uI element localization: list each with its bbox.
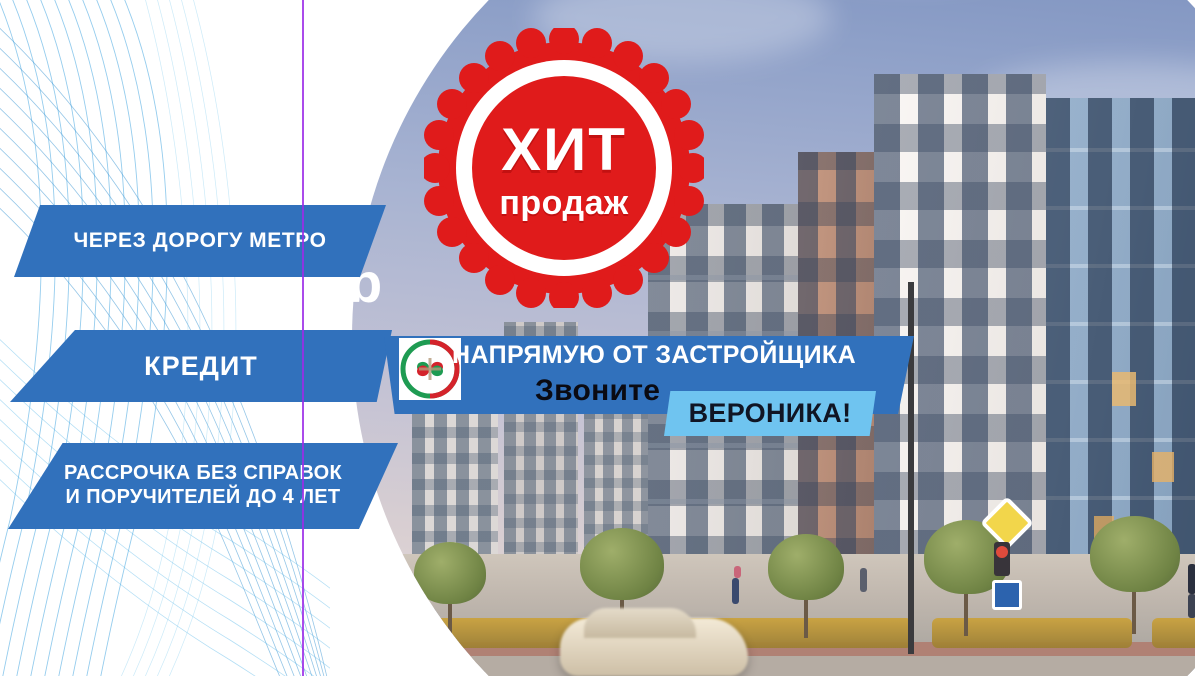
- pedestrian: [1188, 564, 1195, 594]
- feature-banner-installment-label: РАССРОЧКА БЕЗ СПРАВОК И ПОРУЧИТЕЛЕЙ ДО 4…: [64, 462, 342, 509]
- feature-banner-metro[interactable]: ЧЕРЕЗ ДОРОГУ МЕТРО: [14, 205, 386, 277]
- pedestrian-crossing-sign: [992, 580, 1022, 610]
- call-to-action-text: Звоните: [535, 374, 660, 408]
- pedestrian: [732, 578, 739, 604]
- feature-banner-credit-label: КРЕДИТ: [144, 351, 258, 382]
- badge-subtitle: продаж: [424, 186, 704, 220]
- feature-banner-metro-label: ЧЕРЕЗ ДОРОГУ МЕТРО: [73, 229, 326, 253]
- pedestrian: [860, 568, 867, 592]
- hit-sales-badge: ХИТ продаж: [424, 28, 704, 308]
- installment-line-2: И ПОРУЧИТЕЛЕЙ ДО 4 ЛЕТ: [66, 486, 341, 508]
- contact-name-badge[interactable]: ВЕРОНИКА!: [664, 391, 876, 436]
- feature-banner-installment[interactable]: РАССРОЧКА БЕЗ СПРАВОК И ПОРУЧИТЕЛЕЙ ДО 4…: [8, 443, 398, 529]
- badge-title: ХИТ: [424, 120, 704, 180]
- advertisement-banner: ХИТ продаж b ЧЕРЕЗ ДОРОГУ МЕТРО КРЕДИТ Р…: [0, 0, 1195, 676]
- feature-banner-credit[interactable]: КРЕДИТ: [10, 330, 392, 402]
- pedestrian: [734, 566, 741, 578]
- pedestrian: [1188, 594, 1195, 618]
- developer-headline: НАПРЯМУЮ ОТ ЗАСТРОЙЩИКА: [452, 341, 856, 370]
- contact-name-label: ВЕРОНИКА!: [689, 398, 852, 429]
- vertical-guide-line: [302, 0, 304, 676]
- installment-line-1: РАССРОЧКА БЕЗ СПРАВОК: [64, 462, 342, 484]
